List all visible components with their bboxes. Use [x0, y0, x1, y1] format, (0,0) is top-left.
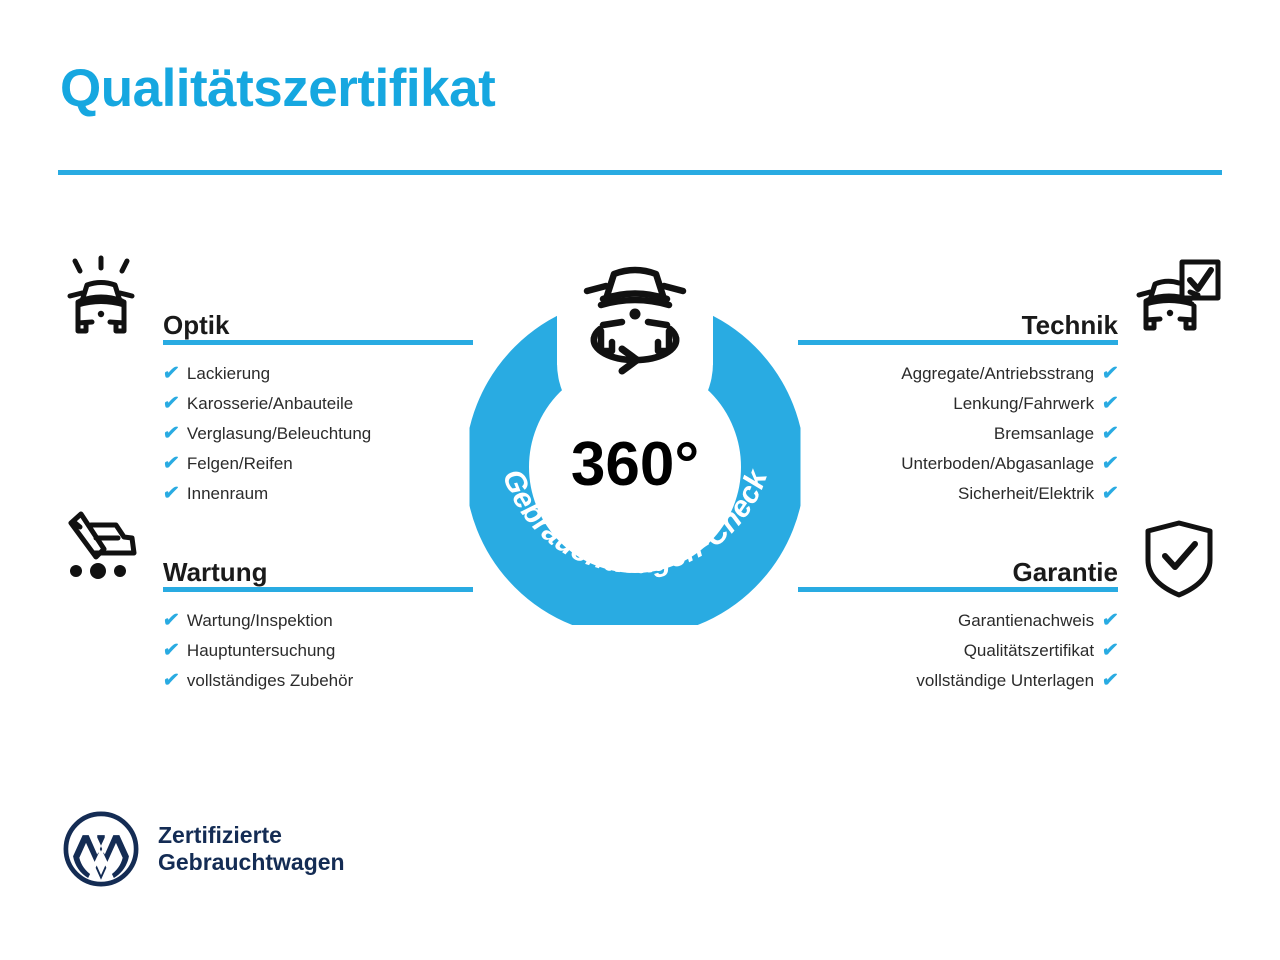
- list-item-label: Wartung/Inspektion: [187, 606, 333, 636]
- section-wartung: Wartung ✔ Wartung/Inspektion ✔ Hauptunte…: [163, 544, 473, 696]
- garantie-list: Garantienachweis ✔ Qualitätszertifikat ✔…: [798, 606, 1118, 696]
- check-icon: ✔: [1100, 636, 1120, 666]
- list-item: Bremsanlage ✔: [798, 419, 1118, 449]
- check-icon: ✔: [161, 389, 181, 419]
- check-icon: ✔: [1100, 389, 1120, 419]
- list-item: Sicherheit/Elektrik ✔: [798, 479, 1118, 509]
- technik-list: Aggregate/Antriebsstrang ✔ Lenkung/Fahrw…: [798, 359, 1118, 509]
- section-garantie: Garantie Garantienachweis ✔ Qualitätszer…: [798, 544, 1118, 696]
- list-item-label: Hauptuntersuchung: [187, 636, 335, 666]
- list-item: ✔ Wartung/Inspektion: [163, 606, 473, 636]
- section-header: Technik: [798, 297, 1118, 345]
- list-item: Aggregate/Antriebsstrang ✔: [798, 359, 1118, 389]
- title-divider: [58, 170, 1222, 175]
- list-item-label: Unterboden/Abgasanlage: [901, 449, 1094, 479]
- list-item: ✔ Felgen/Reifen: [163, 449, 473, 479]
- car-shine-icon: [58, 255, 144, 346]
- list-item-label: Verglasung/Beleuchtung: [187, 419, 371, 449]
- check-icon: ✔: [1100, 606, 1120, 636]
- section-divider: [163, 340, 473, 345]
- check-icon: ✔: [1100, 666, 1120, 696]
- shield-check-icon: [1140, 518, 1218, 605]
- section-divider: [798, 587, 1118, 592]
- list-item-label: vollständiges Zubehör: [187, 666, 353, 696]
- list-item: Unterboden/Abgasanlage ✔: [798, 449, 1118, 479]
- list-item-label: Lackierung: [187, 359, 270, 389]
- footer-line-1: Zertifizierte: [158, 822, 345, 849]
- list-item: Qualitätszertifikat ✔: [798, 636, 1118, 666]
- list-item: vollständige Unterlagen ✔: [798, 666, 1118, 696]
- page-title: Qualitätszertifikat: [60, 58, 495, 119]
- list-item-label: Lenkung/Fahrwerk: [953, 389, 1094, 419]
- list-item: ✔ Hauptuntersuchung: [163, 636, 473, 666]
- volkswagen-logo: [62, 810, 140, 888]
- optik-list: ✔ Lackierung ✔ Karosserie/Anbauteile ✔ V…: [163, 359, 473, 509]
- footer-line-2: Gebrauchtwagen: [158, 849, 345, 876]
- section-title-garantie: Garantie: [1013, 557, 1119, 588]
- list-item: ✔ Innenraum: [163, 479, 473, 509]
- list-item-label: Garantienachweis: [958, 606, 1094, 636]
- check-icon: ✔: [161, 606, 181, 636]
- list-item: Lenkung/Fahrwerk ✔: [798, 389, 1118, 419]
- list-item-label: Karosserie/Anbauteile: [187, 389, 353, 419]
- section-title-wartung: Wartung: [163, 557, 267, 588]
- check-icon: ✔: [161, 449, 181, 479]
- car-service-record-icon: [58, 505, 144, 596]
- section-optik: Optik ✔ Lackierung ✔ Karosserie/Anbautei…: [163, 297, 473, 509]
- section-technik: Technik Aggregate/Antriebsstrang ✔ Lenku…: [798, 297, 1118, 509]
- section-header: Garantie: [798, 544, 1118, 592]
- check-icon: ✔: [161, 666, 181, 696]
- check-icon: ✔: [1100, 419, 1120, 449]
- section-divider: [163, 587, 473, 592]
- section-title-optik: Optik: [163, 310, 229, 341]
- list-item: ✔ Verglasung/Beleuchtung: [163, 419, 473, 449]
- list-item-label: vollständige Unterlagen: [916, 666, 1094, 696]
- section-header: Optik: [163, 297, 473, 345]
- list-item-label: Qualitätszertifikat: [964, 636, 1094, 666]
- car-checkbox-icon: [1132, 258, 1222, 349]
- list-item: ✔ vollständiges Zubehör: [163, 666, 473, 696]
- list-item: Garantienachweis ✔: [798, 606, 1118, 636]
- footer-text: Zertifizierte Gebrauchtwagen: [158, 822, 345, 876]
- check-icon: ✔: [161, 359, 181, 389]
- list-item-label: Sicherheit/Elektrik: [958, 479, 1094, 509]
- check-icon: ✔: [1100, 359, 1120, 389]
- 360-check-badge: Gebrauchtwagen-Check 360°: [455, 245, 820, 625]
- check-icon: ✔: [161, 419, 181, 449]
- list-item-label: Felgen/Reifen: [187, 449, 293, 479]
- check-icon: ✔: [1100, 479, 1120, 509]
- list-item: ✔ Lackierung: [163, 359, 473, 389]
- list-item: ✔ Karosserie/Anbauteile: [163, 389, 473, 419]
- check-icon: ✔: [161, 636, 181, 666]
- wartung-list: ✔ Wartung/Inspektion ✔ Hauptuntersuchung…: [163, 606, 473, 696]
- section-divider: [798, 340, 1118, 345]
- check-icon: ✔: [161, 479, 181, 509]
- list-item-label: Aggregate/Antriebsstrang: [901, 359, 1094, 389]
- check-icon: ✔: [1100, 449, 1120, 479]
- footer-branding: Zertifizierte Gebrauchtwagen: [62, 810, 345, 888]
- quality-certificate-page: Qualitätszertifikat: [0, 0, 1280, 960]
- section-title-technik: Technik: [1022, 310, 1118, 341]
- list-item-label: Bremsanlage: [994, 419, 1094, 449]
- list-item-label: Innenraum: [187, 479, 268, 509]
- badge-center-text: 360°: [571, 430, 699, 499]
- section-header: Wartung: [163, 544, 473, 592]
